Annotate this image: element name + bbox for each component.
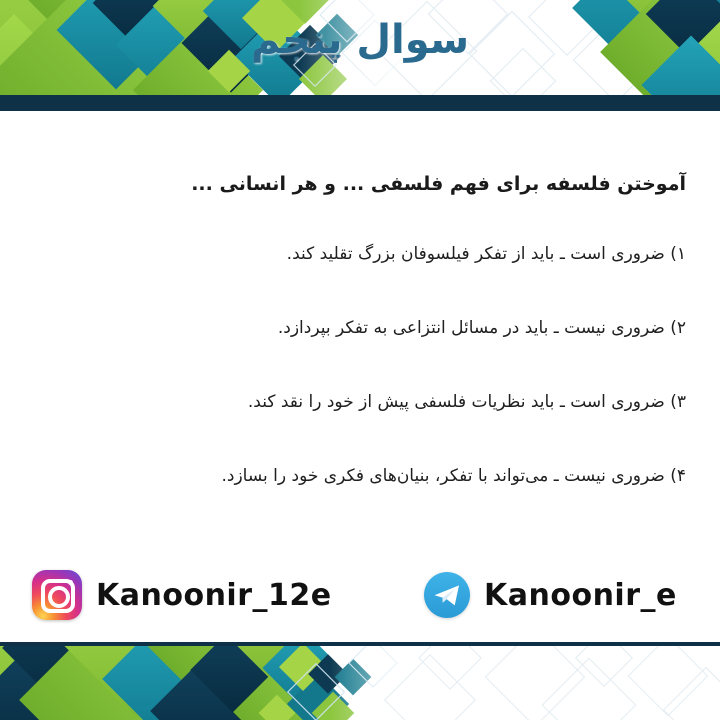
instagram-handle-item[interactable]: Kanoonir_12e — [32, 570, 332, 620]
quiz-slide: سوال پنجم آموختن فلسفه برای فهم فلسفی ..… — [0, 0, 720, 720]
instagram-handle-label: Kanoonir_12e — [96, 578, 332, 613]
option-row[interactable]: ۲) ضروری نیست ـ باید در مسائل انتزاعی به… — [34, 316, 686, 390]
option-row[interactable]: ۳) ضروری است ـ باید نظریات فلسفی پیش از … — [34, 390, 686, 464]
footer-navy-edge — [0, 642, 720, 646]
telegram-handle-label: Kanoonir_e — [484, 578, 677, 613]
option-text: ضروری نیست ـ باید در مسائل انتزاعی به تف… — [278, 318, 665, 338]
option-number: ۳) — [670, 392, 686, 412]
option-text: ضروری نیست ـ می‌تواند با تفکر، بنیان‌های… — [222, 466, 665, 486]
options-list: ۱) ضروری است ـ باید از تفکر فیلسوفان بزر… — [34, 242, 686, 538]
instagram-dot-icon — [68, 580, 73, 585]
bottom-decorative-banner — [0, 642, 720, 720]
question-content: آموختن فلسفه برای فهم فلسفی ... و هر انس… — [0, 120, 720, 550]
top-decorative-banner — [0, 0, 720, 110]
header-navy-strip — [0, 95, 720, 111]
option-text: ضروری است ـ باید از تفکر فیلسوفان بزرگ ت… — [287, 244, 665, 264]
top-banner-graphics — [0, 0, 720, 110]
bottom-banner-pattern — [0, 642, 720, 720]
telegram-plane-icon — [433, 584, 461, 608]
question-stem: آموختن فلسفه برای فهم فلسفی ... و هر انس… — [34, 170, 686, 199]
option-row[interactable]: ۴) ضروری نیست ـ می‌تواند با تفکر، بنیان‌… — [34, 464, 686, 538]
social-bar: Kanoonir_12e Kanoonir_e — [0, 558, 720, 646]
bottom-banner-graphics — [0, 642, 720, 720]
option-number: ۴) — [670, 466, 686, 486]
option-row[interactable]: ۱) ضروری است ـ باید از تفکر فیلسوفان بزر… — [34, 242, 686, 316]
instagram-icon[interactable] — [32, 570, 82, 620]
telegram-handle-item[interactable]: Kanoonir_e — [424, 572, 677, 618]
option-text: ضروری است ـ باید نظریات فلسفی پیش از خود… — [248, 392, 665, 412]
telegram-icon[interactable] — [424, 572, 470, 618]
option-number: ۱) — [670, 244, 686, 264]
top-banner-pattern — [0, 0, 720, 110]
instagram-lens-icon — [48, 586, 70, 608]
question-stem-text: آموختن فلسفه برای فهم فلسفی ... و هر انس… — [191, 173, 686, 195]
option-number: ۲) — [670, 318, 686, 338]
